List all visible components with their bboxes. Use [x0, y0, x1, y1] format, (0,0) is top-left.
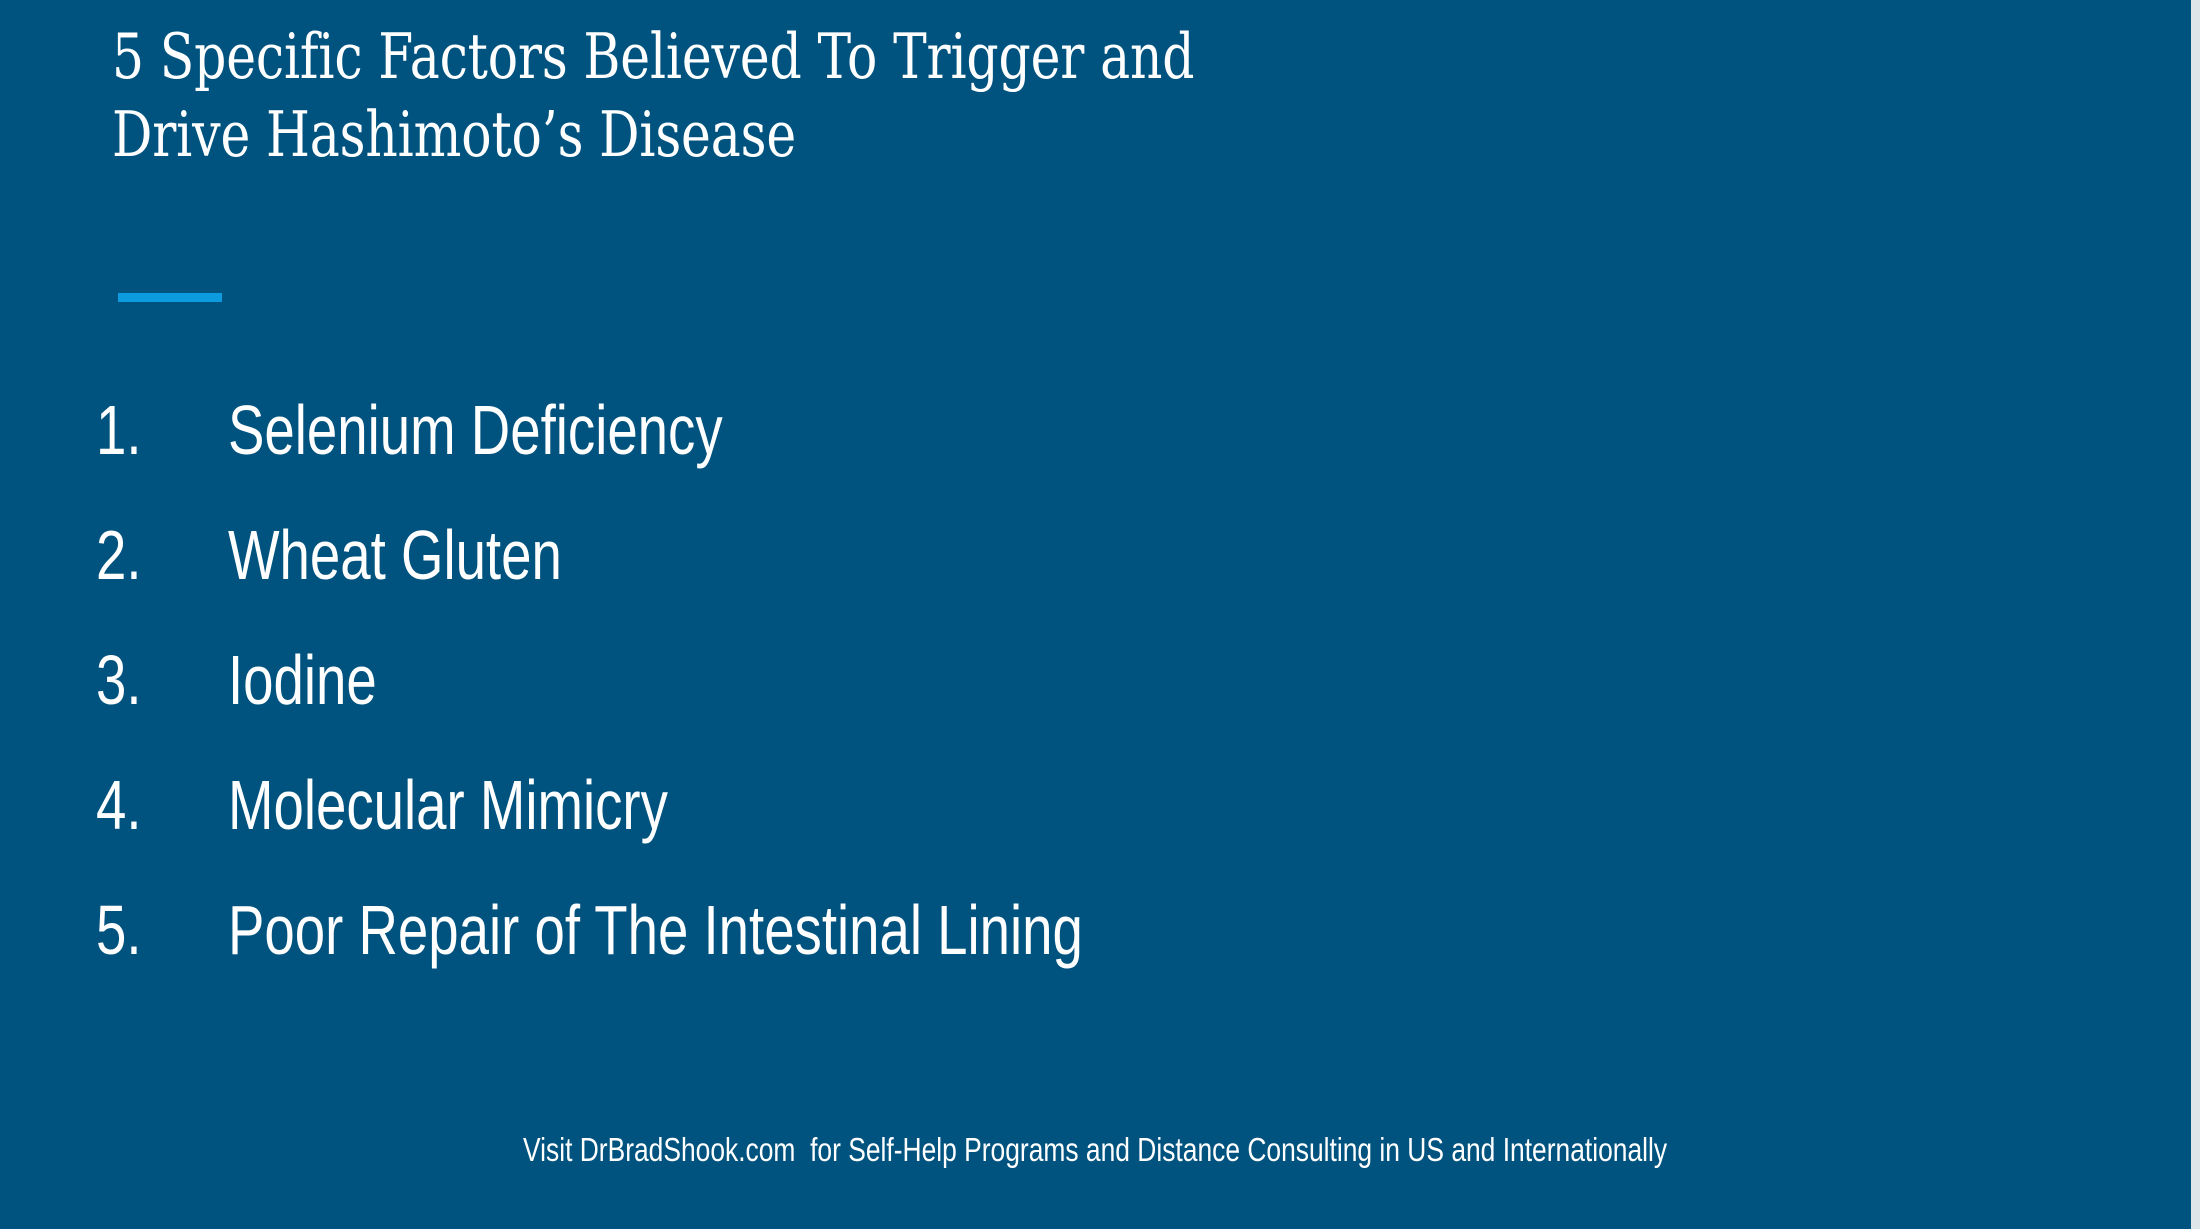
- list-item-label: Iodine: [228, 628, 1646, 732]
- list-item-label: Selenium Deficiency: [228, 378, 1646, 482]
- list-item: 4. Molecular Mimicry: [96, 753, 2046, 878]
- list-item: 5. Poor Repair of The Intestinal Lining: [96, 878, 2046, 1003]
- list-item-number: 4.: [96, 753, 199, 857]
- accent-divider: [118, 293, 222, 302]
- right-edge-strip: [2191, 0, 2200, 1229]
- list-item-label: Poor Repair of The Intestinal Lining: [228, 878, 1646, 982]
- page-title: 5 Specific Factors Believed To Trigger a…: [112, 18, 1632, 174]
- footer: Visit DrBradShook.com for Self-Help Prog…: [0, 1128, 2191, 1172]
- footer-text: Visit DrBradShook.com for Self-Help Prog…: [523, 1128, 1667, 1172]
- factor-list: 1. Selenium Deficiency 2. Wheat Gluten 3…: [96, 378, 2046, 1003]
- list-item: 3. Iodine: [96, 628, 2046, 753]
- list-item-number: 5.: [96, 878, 199, 982]
- list-item-number: 3.: [96, 628, 199, 732]
- list-item-number: 2.: [96, 503, 199, 607]
- presentation-slide: 5 Specific Factors Believed To Trigger a…: [0, 0, 2200, 1229]
- title-block: 5 Specific Factors Believed To Trigger a…: [112, 18, 2012, 174]
- list-item-number: 1.: [96, 378, 199, 482]
- list-item: 1. Selenium Deficiency: [96, 378, 2046, 503]
- list-item: 2. Wheat Gluten: [96, 503, 2046, 628]
- list-item-label: Molecular Mimicry: [228, 753, 1646, 857]
- list-item-label: Wheat Gluten: [228, 503, 1646, 607]
